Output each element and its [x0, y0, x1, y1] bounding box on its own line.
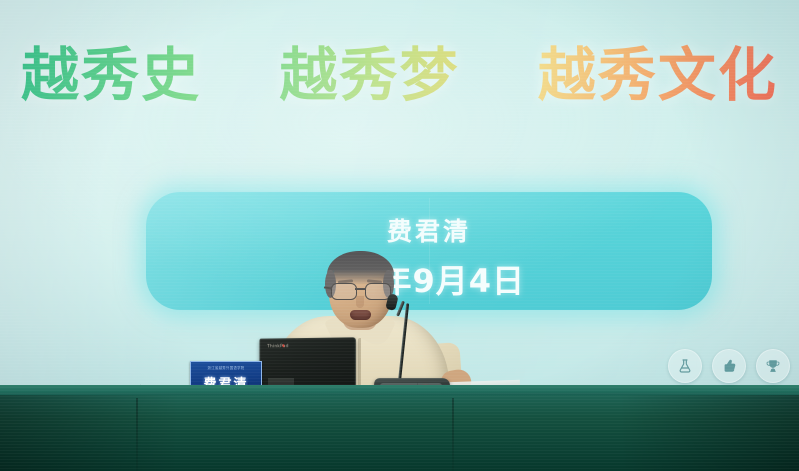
laptop-brand-logo: ThinkPad [267, 344, 282, 349]
overlay-action-rail [668, 349, 790, 383]
desk-shadow-right [619, 395, 799, 471]
flask-button[interactable] [668, 349, 702, 383]
lecture-photo: 越秀史 越秀梦 越秀文化 费君清 23年9月4日 [0, 0, 799, 471]
glasses-bridge [355, 288, 365, 290]
presenter-mouth [350, 310, 371, 320]
flask-icon [677, 358, 693, 374]
desk-fold-left [452, 398, 454, 471]
presenter-nose [356, 296, 364, 308]
desk-shadow-left [0, 395, 180, 471]
trophy-icon [765, 358, 781, 374]
trophy-button[interactable] [756, 349, 790, 383]
thumbs-up-icon [721, 358, 737, 374]
like-button[interactable] [712, 349, 746, 383]
nameplate-organization: 浙江省越秀外国语学院 [191, 365, 261, 370]
glasses-lens-left [331, 283, 357, 300]
